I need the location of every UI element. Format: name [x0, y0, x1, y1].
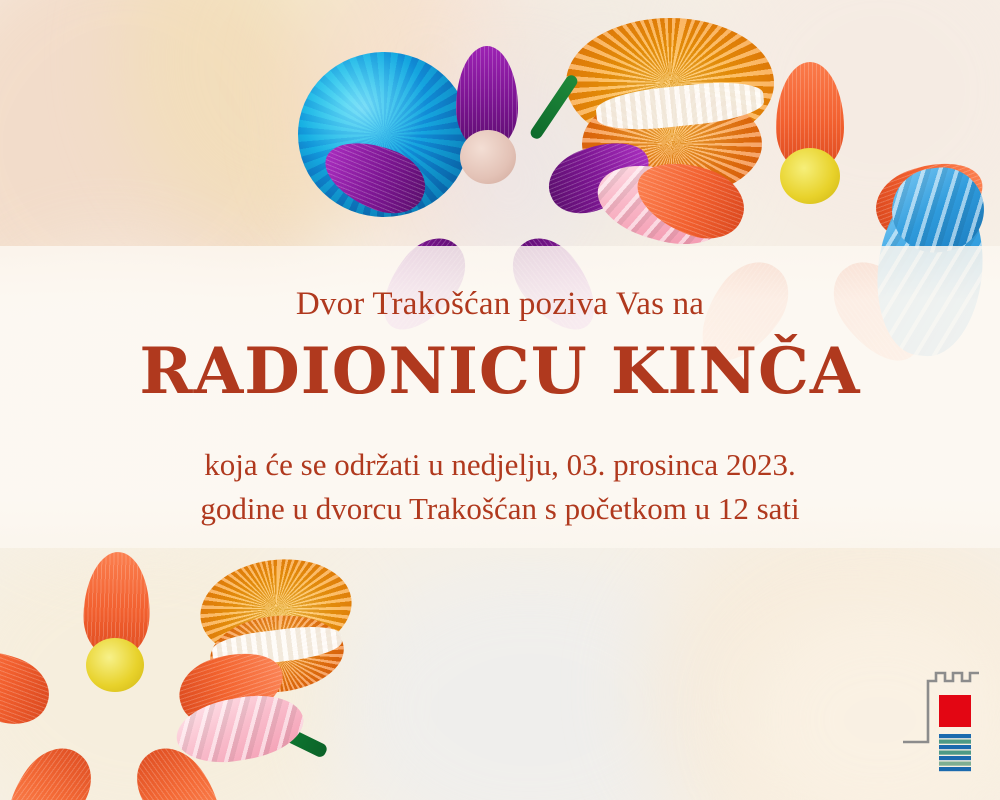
- logo-stripe: [939, 740, 971, 744]
- flower-center: [780, 148, 840, 204]
- poster-headline: RADIONICU KINČA: [0, 340, 1000, 404]
- flower-center: [86, 638, 144, 692]
- logo-stripe: [939, 751, 971, 755]
- logo-stripe: [939, 767, 971, 771]
- flower-center: [460, 130, 516, 184]
- poster-detail-line-1: koja će se održati u nedjelju, 03. prosi…: [0, 444, 1000, 487]
- logo-stripe: [939, 762, 971, 766]
- poster-detail-line-2: godine u dvorcu Trakošćan s početkom u 1…: [0, 488, 1000, 531]
- red-square: [939, 695, 971, 727]
- logo-stripe: [939, 734, 971, 738]
- logo-stripe: [939, 756, 971, 760]
- poster: Dvor Trakošćan poziva Vas na RADIONICU K…: [0, 0, 1000, 800]
- logo-stripe: [939, 745, 971, 749]
- poster-subtitle-top: Dvor Trakošćan poziva Vas na: [0, 286, 1000, 323]
- dvor-trakoscan-logo[interactable]: [902, 668, 980, 772]
